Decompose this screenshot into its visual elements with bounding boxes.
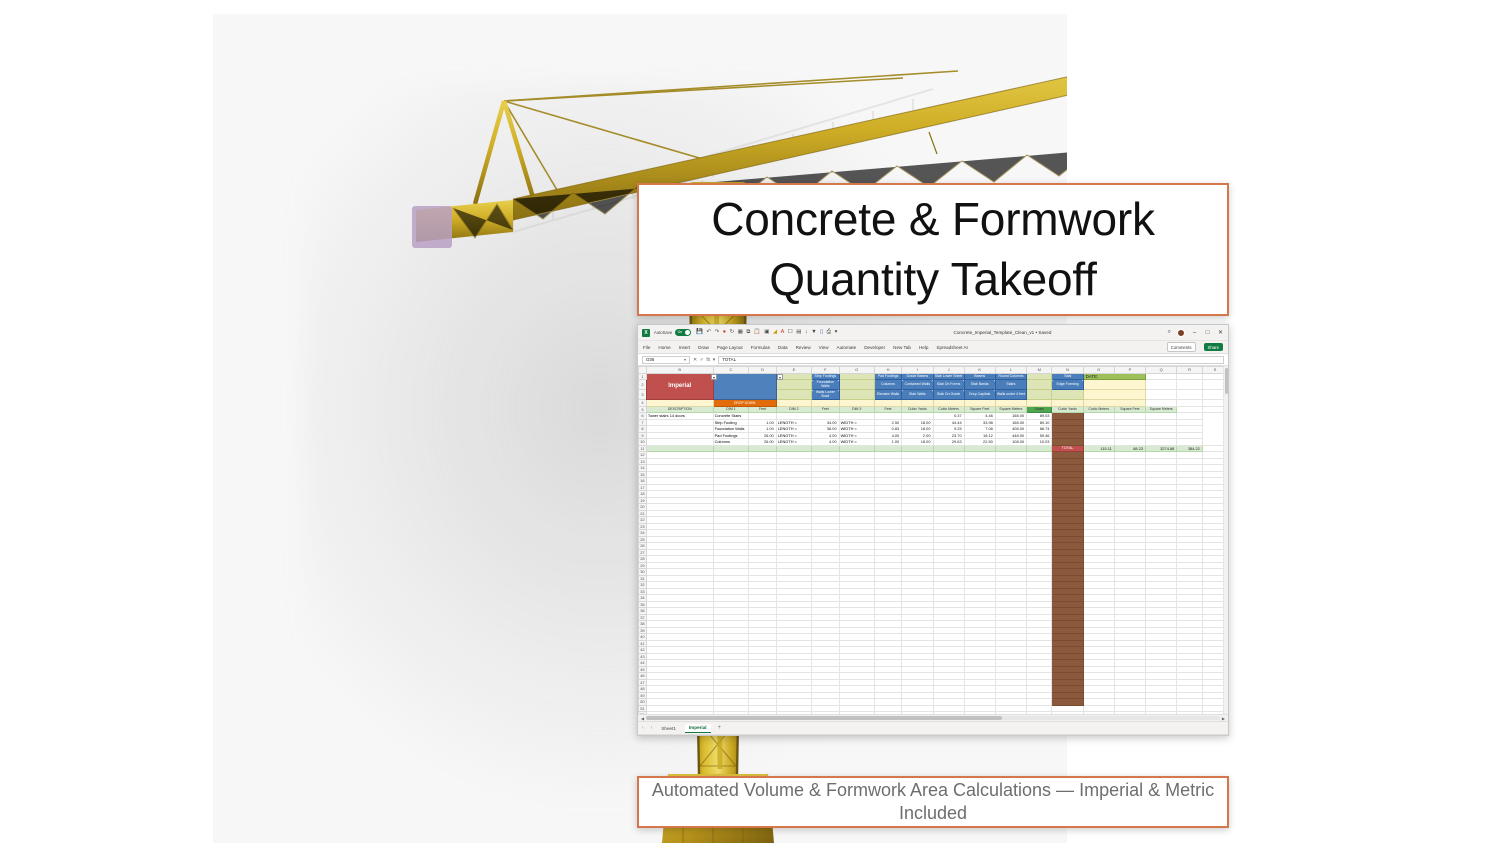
horizontal-scroll-track[interactable] [646, 716, 1220, 720]
autosave-label: AutoSave [654, 330, 672, 335]
refresh-icon[interactable]: ↻ [730, 330, 735, 336]
blank-cell[interactable] [1114, 712, 1145, 715]
blank-cell[interactable] [933, 712, 964, 715]
blank-cell[interactable] [839, 712, 874, 715]
blank-cell[interactable] [812, 712, 840, 715]
spacer-cell [839, 390, 874, 400]
button-pad-footings[interactable]: Pad Footings [874, 373, 901, 380]
excel-window[interactable]: AutoSave On 💾 ↶ ↷ ● ↻ ▦ ⧉ 📋 ▣ ◢ A ☐ ▤ ↓ … [637, 324, 1229, 736]
paste-icon[interactable]: 📋 [754, 330, 761, 336]
unit-system-banner[interactable]: Imperial [646, 373, 713, 400]
button-elevator-walls[interactable]: Elevator Walls [874, 390, 901, 400]
grid-table[interactable]: B C D E F G H I J K L M N O P Q R [638, 366, 1228, 714]
blank-cell[interactable] [1145, 712, 1176, 715]
formula-expand-icon[interactable]: ▾ [713, 357, 716, 363]
horizontal-scrollbar[interactable]: ◀ ▶ [638, 714, 1228, 721]
blank-cell[interactable] [964, 712, 995, 715]
quick-access-toolbar[interactable]: 💾 ↶ ↷ ● ↻ ▦ ⧉ 📋 ▣ ◢ A ☐ ▤ ↓ ▼ ▯ ⎙ ▾ [696, 330, 837, 336]
button-stair-walls[interactable]: Stair Walls [902, 390, 933, 400]
row-3-header[interactable]: 3 [639, 390, 647, 400]
font-color-icon[interactable]: A [781, 330, 785, 336]
tab-developer[interactable]: Developer [864, 345, 885, 350]
blank-cell[interactable] [1145, 390, 1176, 400]
spacer-cell [839, 380, 874, 390]
title-line-1: Concrete & Formwork [711, 193, 1155, 245]
button-round-columns[interactable]: Round Columns [995, 373, 1026, 380]
formula-input[interactable]: TOTAL [718, 356, 1224, 364]
slide-canvas: Concrete & Formwork Quantity Takeoff Aut… [0, 0, 1500, 843]
blank-cell[interactable] [995, 712, 1026, 715]
borders-icon[interactable]: ☐ [788, 330, 793, 336]
blank-cell[interactable] [749, 712, 776, 715]
sheet-tab-sheet1[interactable]: Sheet1 [659, 726, 678, 731]
date-value-cell[interactable] [1083, 380, 1145, 390]
tab-draw[interactable]: Draw [698, 345, 709, 350]
sheet-tab-bar[interactable]: ‹ › Sheet1 Imperial + [638, 721, 1228, 734]
autosave-toggle[interactable]: On [675, 329, 691, 336]
redo-icon[interactable]: ↷ [715, 330, 720, 336]
document-title[interactable]: Concrete_Imperial_Template_Clean_v1 • Sa… [837, 330, 1167, 335]
excel-title-bar: AutoSave On 💾 ↶ ↷ ● ↻ ▦ ⧉ 📋 ▣ ◢ A ☐ ▤ ↓ … [638, 325, 1228, 341]
tab-new-tab[interactable]: New Tab [893, 345, 911, 350]
selector-dropdown-arrow[interactable]: ▾ [777, 374, 783, 380]
spreadsheet-grid[interactable]: B C D E F G H I J K L M N O P Q R [638, 366, 1228, 714]
formula-controls[interactable]: ✕ ✓ fx ▾ [693, 357, 715, 363]
empty-row[interactable]: 52 [639, 712, 1228, 715]
new-comment-icon[interactable]: ▯ [820, 330, 823, 336]
title-line-2: Quantity Takeoff [769, 253, 1097, 305]
spacer-cell [1027, 390, 1052, 400]
formula-bar[interactable]: O36 ▾ ✕ ✓ fx ▾ TOTAL [638, 354, 1228, 366]
insert-function-icon[interactable]: fx [706, 357, 710, 363]
blank-cell[interactable] [776, 712, 811, 715]
button-edge-forming[interactable]: Edge Forming [1052, 380, 1083, 390]
maximize-button[interactable]: □ [1204, 330, 1211, 336]
close-button[interactable]: ✕ [1217, 329, 1224, 336]
button-columns[interactable]: Columns [874, 380, 901, 390]
status-bar: Ready ▦ Accessibility: Investigate Avera… [638, 734, 1228, 736]
blank-cell[interactable] [646, 712, 713, 715]
blue-selector-box[interactable] [713, 373, 776, 400]
button-grade-beams[interactable]: Grade Beams [902, 373, 933, 380]
blank-cell[interactable] [1027, 712, 1052, 715]
row-description[interactable]: Foundation Walls [713, 426, 749, 433]
scroll-left-icon[interactable]: ◀ [641, 716, 644, 721]
button-walls-lower-bowl[interactable]: Walls Lower Bowl [812, 390, 840, 400]
format-icon[interactable]: ▤ [796, 330, 801, 336]
enter-icon[interactable]: ✓ [700, 357, 704, 363]
page-caption: Automated Volume & Formwork Area Calcula… [639, 779, 1227, 824]
search-icon[interactable]: ⌕ [1168, 329, 1171, 336]
vertical-scrollbar[interactable] [1223, 366, 1228, 714]
title-card: Concrete & Formwork Quantity Takeoff [637, 183, 1229, 316]
blank-cell[interactable] [1052, 712, 1083, 715]
spacer-cell [776, 380, 811, 390]
minimize-button[interactable]: – [1191, 330, 1198, 336]
page-title: Concrete & Formwork Quantity Takeoff [701, 190, 1165, 310]
tab-formulas[interactable]: Formulas [751, 345, 770, 350]
name-box-value: O36 [646, 357, 654, 362]
blank-cell[interactable] [1083, 712, 1114, 715]
window-controls[interactable]: ⌕ – □ ✕ [1168, 329, 1224, 337]
save-icon[interactable]: 💾 [696, 330, 703, 336]
blank-cell[interactable] [1177, 712, 1203, 715]
avatar[interactable] [1177, 329, 1185, 337]
record-icon[interactable]: ● [723, 330, 726, 336]
ribbon-tab-strip[interactable]: File Home Insert Draw Page Layout Formul… [638, 341, 1228, 354]
scroll-right-icon[interactable]: ▶ [1222, 716, 1225, 721]
spacer-cell [776, 390, 811, 400]
button-slab-on-forms[interactable]: Slab On Forms [933, 380, 964, 390]
filter-icon[interactable]: ▼ [811, 330, 816, 336]
comments-button[interactable]: Comments [1167, 342, 1196, 352]
vertical-scroll-thumb[interactable] [1225, 368, 1228, 394]
button-slab-lower-sheet[interactable]: Slab Lower Sheet [933, 373, 964, 380]
button-stairs[interactable]: Stairs [995, 380, 1026, 390]
caption-line-1: Automated Volume & Formwork Area Calcula… [652, 780, 1074, 800]
blank-cell[interactable] [1145, 380, 1176, 390]
row-header[interactable]: 52 [639, 712, 647, 715]
button-foundation-walls[interactable]: Foundation Walls [812, 380, 840, 390]
share-button[interactable]: Share [1204, 343, 1223, 352]
excel-app-icon [642, 329, 650, 337]
blank-cell[interactable] [874, 712, 901, 715]
next-sheet-icon[interactable]: › [651, 725, 653, 731]
button-total[interactable]: Total [1052, 373, 1083, 380]
chevron-down-icon[interactable]: ▾ [684, 357, 686, 362]
button-beams[interactable]: Beams [964, 373, 995, 380]
button-slab-on-grade[interactable]: Slab On Grade [933, 390, 964, 400]
button-strip-footings[interactable]: Strip Footings [812, 373, 840, 380]
date-value-cell-2[interactable] [1083, 390, 1145, 400]
undo-icon[interactable]: ↶ [707, 330, 712, 336]
spacer-cell [1052, 390, 1083, 400]
button-walls-under-4-feet[interactable]: Walls under 4 feet [995, 390, 1026, 400]
row-2-header[interactable]: 2 [639, 380, 647, 390]
blank-cell[interactable] [1177, 380, 1203, 390]
caption-card: Automated Volume & Formwork Area Calcula… [637, 776, 1229, 828]
spacer-cell [1027, 380, 1052, 390]
button-drop-capitals[interactable]: Drop Capitals [964, 390, 995, 400]
print-icon[interactable]: ⎙ [827, 330, 831, 336]
tab-view[interactable]: View [819, 345, 829, 350]
tab-spreadsheet-ai[interactable]: Spreadsheet AI [936, 345, 967, 350]
tab-review[interactable]: Review [796, 345, 811, 350]
unit-dropdown-arrow[interactable]: ▾ [711, 374, 717, 380]
blank-cell[interactable] [713, 712, 749, 715]
tab-help[interactable]: Help [919, 345, 928, 350]
tab-automate[interactable]: Automate [837, 345, 857, 350]
picture-icon[interactable]: ▣ [764, 330, 769, 336]
horizontal-scroll-thumb[interactable] [646, 716, 1002, 720]
tab-file[interactable]: File [643, 345, 650, 350]
tab-home[interactable]: Home [658, 345, 670, 350]
fill-color-icon[interactable]: ◢ [773, 330, 777, 336]
cancel-icon[interactable]: ✕ [693, 357, 697, 363]
tab-insert[interactable]: Insert [679, 345, 691, 350]
tab-data[interactable]: Data [778, 345, 788, 350]
name-box[interactable]: O36 ▾ [642, 356, 690, 364]
table-icon[interactable]: ▦ [738, 330, 743, 336]
copy-icon[interactable]: ⧉ [746, 330, 750, 336]
previous-sheet-icon[interactable]: ‹ [642, 725, 644, 731]
tab-page-layout[interactable]: Page Layout [717, 345, 743, 350]
autosave-state: On [678, 330, 683, 334]
blank-cell[interactable] [902, 712, 933, 715]
add-sheet-button[interactable]: + [718, 725, 722, 731]
button-slab-bands[interactable]: Slab Bands [964, 380, 995, 390]
button-contained-walls[interactable]: Contained Walls [902, 380, 933, 390]
sort-icon[interactable]: ↓ [805, 330, 808, 336]
blank-cell[interactable] [1177, 390, 1203, 400]
sheet-tab-imperial[interactable]: Imperial [685, 724, 711, 733]
